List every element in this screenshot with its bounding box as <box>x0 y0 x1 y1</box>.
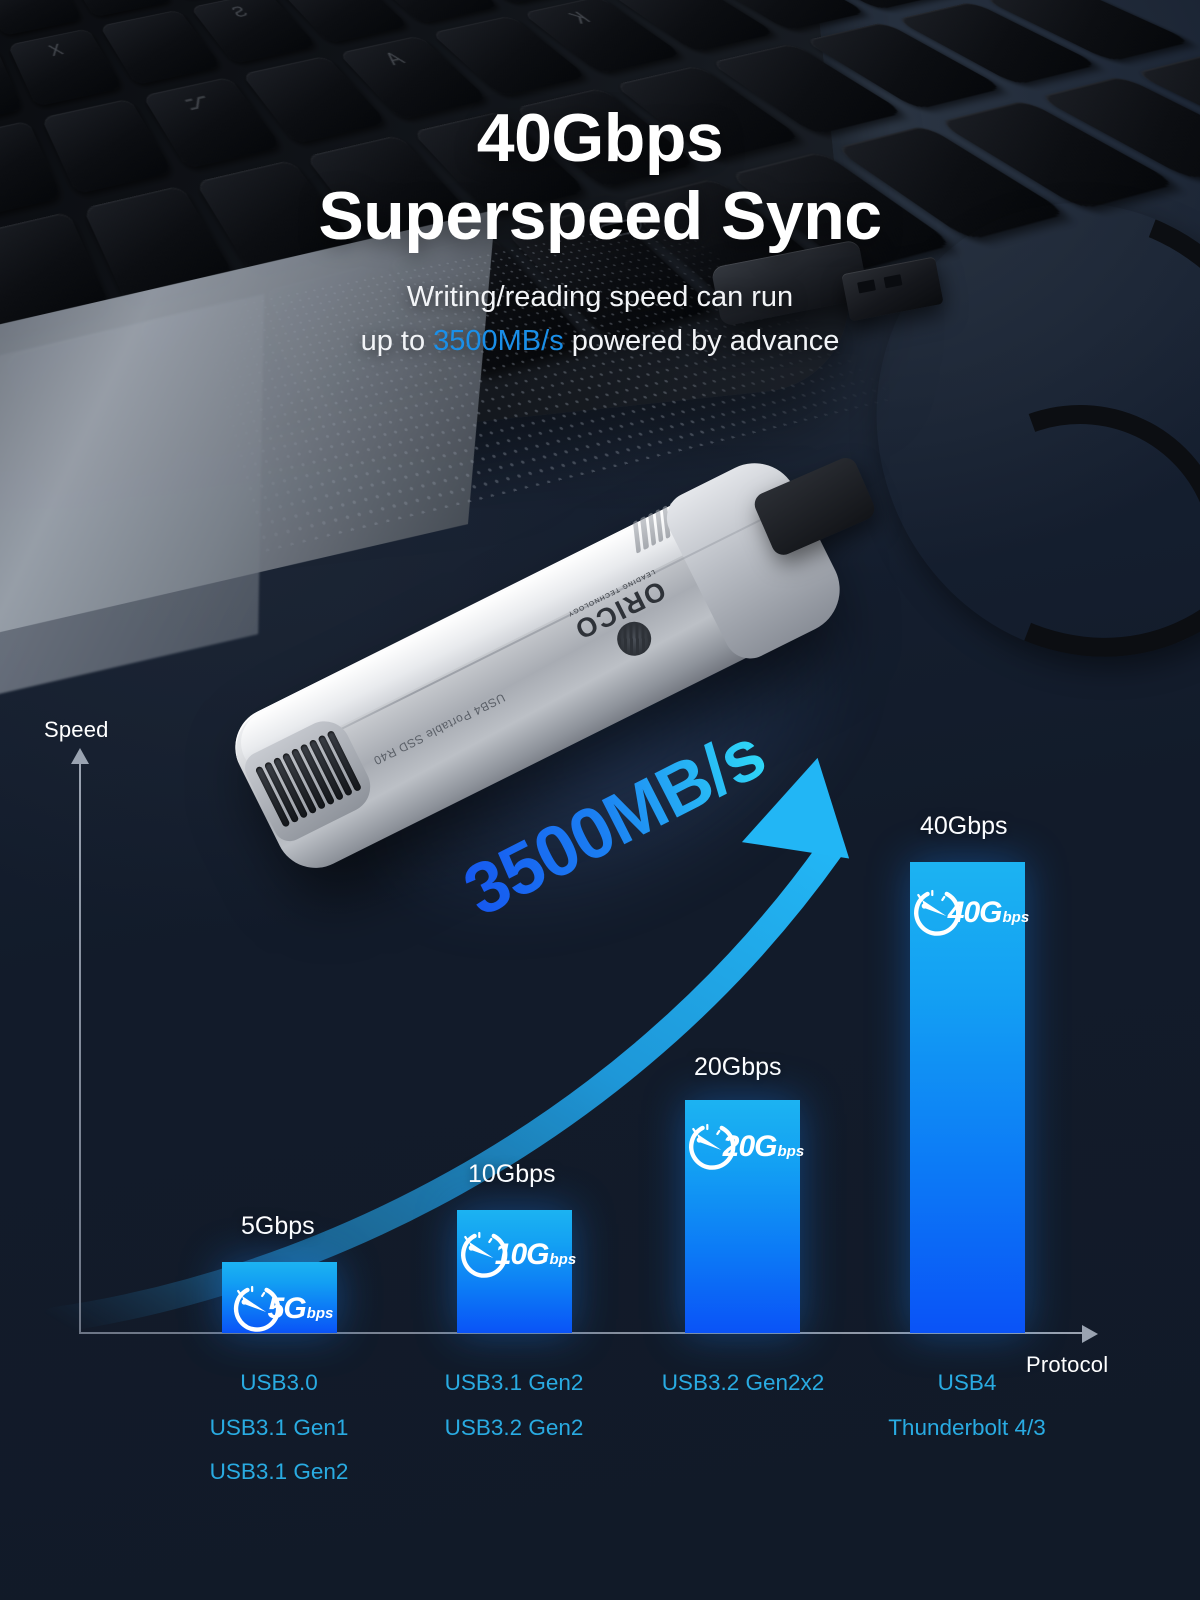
page-title: 40Gbps Superspeed Sync <box>0 104 1200 250</box>
bar-3[interactable]: 20Gbps <box>685 1100 800 1333</box>
bar-value-label-2: 10Gbps <box>468 1160 556 1189</box>
speed-badge-4: 40Gbps <box>906 888 1029 938</box>
subtitle-suffix: powered by advance <box>564 325 840 357</box>
badge-unit-2: bps <box>550 1251 577 1268</box>
y-axis-arrow-icon <box>71 748 89 764</box>
badge-text-2: 10Gbps <box>495 1238 576 1272</box>
bar-value-label-3: 20Gbps <box>694 1053 782 1082</box>
headline-line-2: Superspeed Sync <box>0 182 1200 250</box>
subtitle-prefix: up to <box>361 325 434 357</box>
headline-line-1: 40Gbps <box>477 100 723 176</box>
headline-block: 40Gbps Superspeed Sync Writing/reading s… <box>0 104 1200 363</box>
bar-2[interactable]: 10Gbps <box>457 1210 572 1333</box>
y-axis-line <box>79 762 81 1334</box>
bar-value-label-4: 40Gbps <box>920 812 1008 841</box>
speed-highlight: 3500MB/s <box>433 325 564 357</box>
category-label-1-2: USB3.1 Gen2 <box>129 1461 429 1484</box>
badge-unit-1: bps <box>307 1305 334 1322</box>
bar-4[interactable]: 40Gbps <box>910 862 1025 1333</box>
badge-text-3: 20Gbps <box>723 1130 804 1164</box>
category-label-2-1: USB3.2 Gen2 <box>364 1417 664 1440</box>
bar-value-label-1: 5Gbps <box>241 1212 315 1241</box>
badge-text-4: 40Gbps <box>948 896 1029 930</box>
badge-value-1: 5G <box>268 1292 306 1326</box>
subtitle-line-2: up to 3500MB/s powered by advance <box>0 320 1200 364</box>
badge-unit-4: bps <box>1003 909 1030 926</box>
category-group-4: USB4 Thunderbolt 4/3 <box>817 1372 1117 1461</box>
x-axis-arrow-icon <box>1082 1325 1098 1343</box>
badge-value-3: 20G <box>723 1130 777 1164</box>
y-axis-label: Speed <box>44 717 109 743</box>
subtitle-line-1: Writing/reading speed can run <box>0 276 1200 320</box>
category-label-4-1: Thunderbolt 4/3 <box>817 1417 1117 1440</box>
speed-badge-2: 10Gbps <box>453 1230 576 1280</box>
badge-value-4: 40G <box>948 896 1002 930</box>
badge-unit-3: bps <box>778 1143 805 1160</box>
badge-value-2: 10G <box>495 1238 549 1272</box>
speed-badge-3: 20Gbps <box>681 1122 804 1172</box>
badge-text-1: 5Gbps <box>268 1292 334 1326</box>
bar-1[interactable]: 5Gbps <box>222 1262 337 1333</box>
headline-subtitle: Writing/reading speed can run up to 3500… <box>0 276 1200 363</box>
speed-badge-1: 5Gbps <box>226 1284 334 1334</box>
category-label-4-0: USB4 <box>817 1372 1117 1395</box>
